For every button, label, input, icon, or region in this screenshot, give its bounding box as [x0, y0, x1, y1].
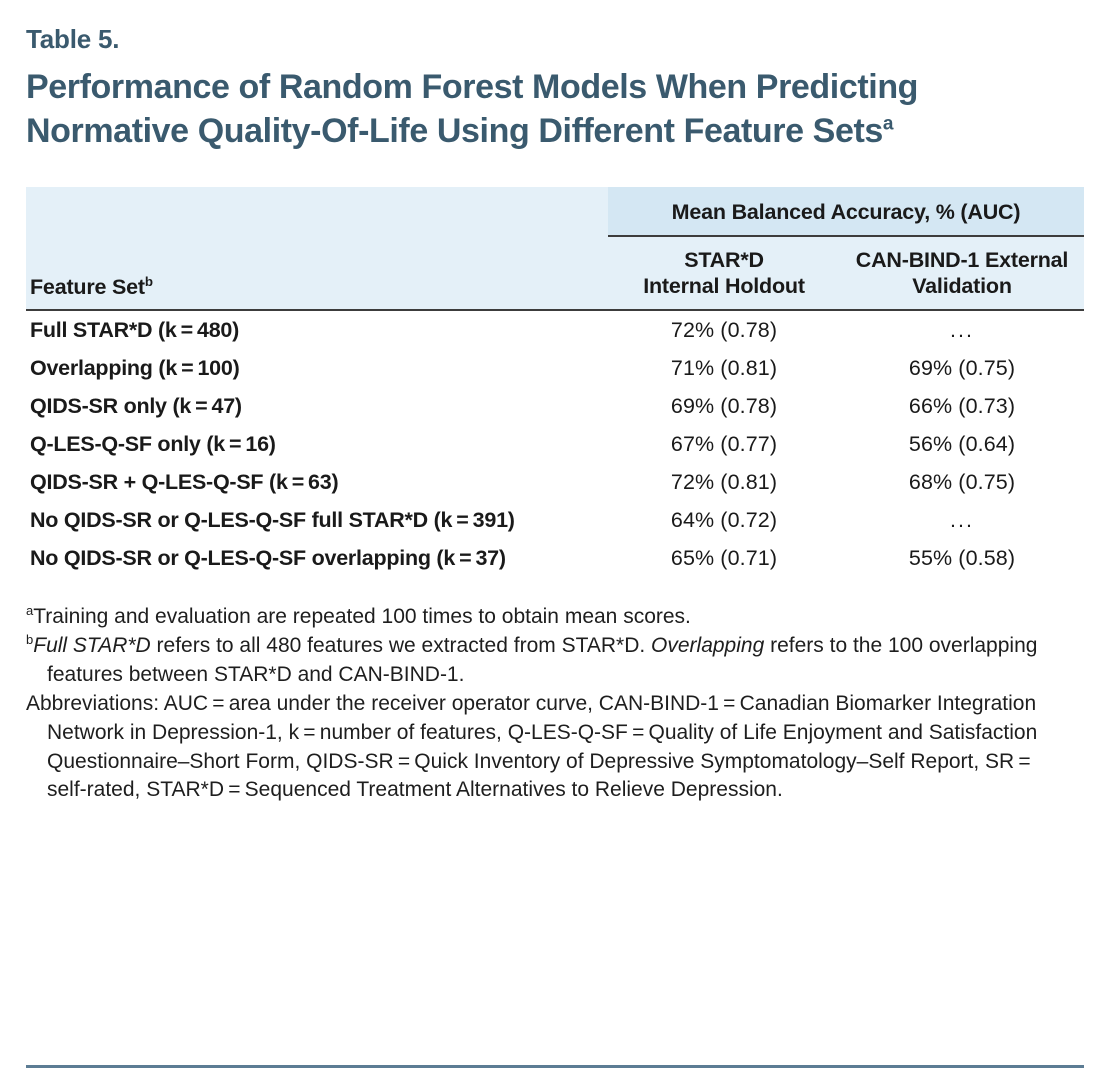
- cell-feature-set: Overlapping (k = 100): [26, 349, 608, 387]
- table-title-footnote-marker: a: [883, 113, 893, 134]
- table-title-text: Performance of Random Forest Models When…: [26, 68, 918, 150]
- footnote-abbreviations: Abbreviations: AUC = area under the rece…: [26, 690, 1074, 806]
- header-canbind-line1: CAN-BIND-1 External: [856, 248, 1068, 272]
- cell-stard-value: 64% (0.72): [608, 501, 840, 539]
- table-title: Performance of Random Forest Models When…: [26, 66, 986, 153]
- footnote-b: bFull STAR*D refers to all 480 features …: [26, 632, 1074, 690]
- cell-canbind-value: 55% (0.58): [840, 539, 1084, 577]
- cell-stard-value: 72% (0.78): [608, 310, 840, 349]
- bottom-rule-divider: [26, 1065, 1084, 1068]
- cell-stard-value: 72% (0.81): [608, 463, 840, 501]
- cell-stard-value: 67% (0.77): [608, 425, 840, 463]
- header-spacer-cell: [26, 187, 608, 236]
- table-row: Full STAR*D (k = 480) 72% (0.78) ...: [26, 310, 1084, 349]
- cell-canbind-value: 68% (0.75): [840, 463, 1084, 501]
- header-feature-set: Feature Setb: [26, 236, 608, 309]
- cell-stard-value: 71% (0.81): [608, 349, 840, 387]
- footnote-a-text: Training and evaluation are repeated 100…: [33, 605, 691, 628]
- table-body: Full STAR*D (k = 480) 72% (0.78) ... Ove…: [26, 310, 1084, 577]
- table-number-label: Table 5.: [26, 0, 1084, 55]
- table-head: Mean Balanced Accuracy, % (AUC) Feature …: [26, 187, 1084, 309]
- cell-canbind-value: 69% (0.75): [840, 349, 1084, 387]
- footnote-a: aTraining and evaluation are repeated 10…: [26, 603, 1074, 632]
- footnote-b-text-1: refers to all 480 features we extracted …: [151, 634, 651, 657]
- cell-feature-set: Full STAR*D (k = 480): [26, 310, 608, 349]
- header-spanner-mean-balanced-accuracy: Mean Balanced Accuracy, % (AUC): [608, 187, 1084, 236]
- table-row: No QIDS-SR or Q-LES-Q-SF overlapping (k …: [26, 539, 1084, 577]
- header-canbind-external-validation: CAN-BIND-1 ExternalValidation: [840, 236, 1084, 309]
- cell-stard-value: 69% (0.78): [608, 387, 840, 425]
- footnote-b-italic-full-stard: Full STAR*D: [33, 634, 150, 657]
- cell-feature-set: QIDS-SR + Q-LES-Q-SF (k = 63): [26, 463, 608, 501]
- table-row: QIDS-SR + Q-LES-Q-SF (k = 63) 72% (0.81)…: [26, 463, 1084, 501]
- cell-feature-set: No QIDS-SR or Q-LES-Q-SF full STAR*D (k …: [26, 501, 608, 539]
- header-stard-line2: Internal Holdout: [643, 274, 805, 298]
- cell-feature-set: Q-LES-Q-SF only (k = 16): [26, 425, 608, 463]
- table-row: QIDS-SR only (k = 47) 69% (0.78) 66% (0.…: [26, 387, 1084, 425]
- header-feature-set-footnote-marker: b: [145, 274, 153, 289]
- cell-canbind-value: 56% (0.64): [840, 425, 1084, 463]
- header-stard-line1: STAR*D: [684, 248, 764, 272]
- header-canbind-line2: Validation: [912, 274, 1012, 298]
- cell-canbind-value: ...: [840, 310, 1084, 349]
- cell-stard-value: 65% (0.71): [608, 539, 840, 577]
- header-feature-set-label: Feature Set: [30, 275, 145, 299]
- table-footnotes: aTraining and evaluation are repeated 10…: [26, 603, 1074, 806]
- table-row: No QIDS-SR or Q-LES-Q-SF full STAR*D (k …: [26, 501, 1084, 539]
- cell-feature-set: QIDS-SR only (k = 47): [26, 387, 608, 425]
- table-figure-page: Table 5. Performance of Random Forest Mo…: [0, 0, 1110, 1087]
- footnote-b-italic-overlapping: Overlapping: [651, 634, 764, 657]
- header-stard-internal-holdout: STAR*DInternal Holdout: [608, 236, 840, 309]
- cell-feature-set: No QIDS-SR or Q-LES-Q-SF overlapping (k …: [26, 539, 608, 577]
- table-container: Mean Balanced Accuracy, % (AUC) Feature …: [26, 187, 1084, 576]
- header-row-spanner: Mean Balanced Accuracy, % (AUC): [26, 187, 1084, 236]
- table-row: Q-LES-Q-SF only (k = 16) 67% (0.77) 56% …: [26, 425, 1084, 463]
- results-table: Mean Balanced Accuracy, % (AUC) Feature …: [26, 187, 1084, 576]
- table-row: Overlapping (k = 100) 71% (0.81) 69% (0.…: [26, 349, 1084, 387]
- cell-canbind-value: 66% (0.73): [840, 387, 1084, 425]
- header-row-columns: Feature Setb STAR*DInternal Holdout CAN-…: [26, 236, 1084, 309]
- cell-canbind-value: ...: [840, 501, 1084, 539]
